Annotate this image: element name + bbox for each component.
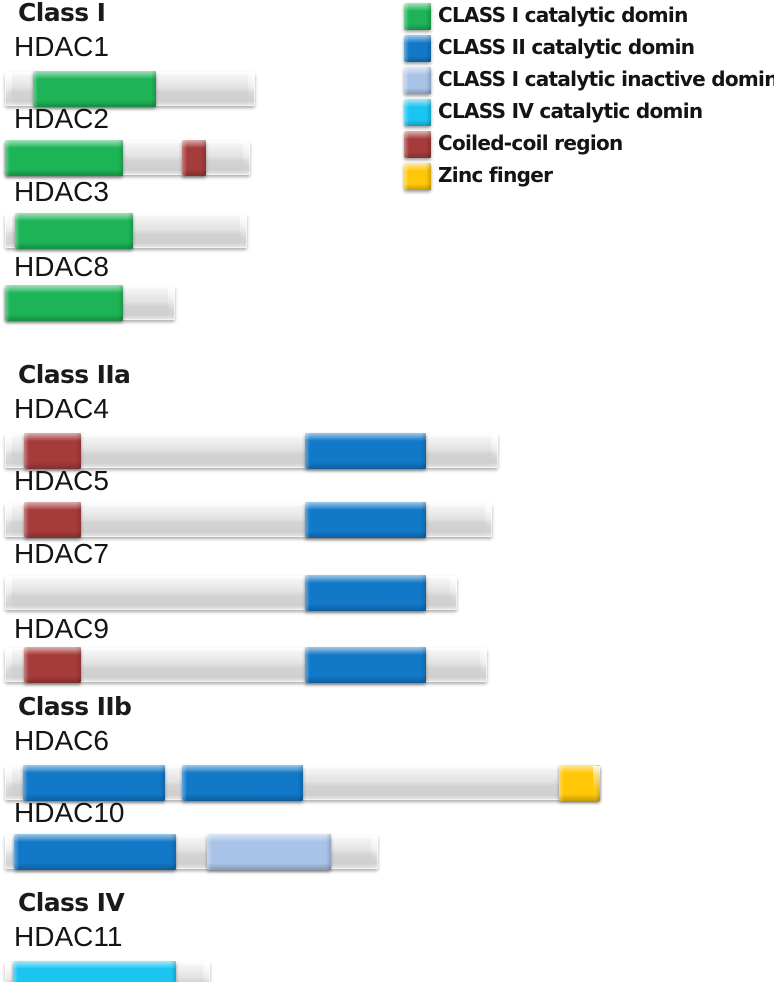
domain-block-class-ii-catalytic	[305, 647, 426, 683]
coiled-coil-swatch	[404, 131, 431, 158]
protein-bar	[5, 214, 247, 248]
domain-block-class-ii-catalytic	[305, 433, 426, 469]
legend-label: Coiled-coil region	[438, 128, 623, 159]
domain-block-class-ii-catalytic	[182, 765, 303, 801]
class-i-catalytic-swatch	[404, 3, 431, 30]
domain-block-class-ii-catalytic	[23, 765, 165, 801]
protein-bar	[5, 141, 250, 175]
protein-bar	[5, 766, 600, 800]
legend-item: CLASS I catalytic domin	[398, 0, 774, 32]
domain-block-class-i-inactive	[207, 834, 331, 870]
protein-label: HDAC2	[14, 105, 109, 133]
class-ii-catalytic-swatch	[404, 35, 431, 62]
domain-block-class-ii-catalytic	[305, 502, 426, 538]
protein-bar	[5, 576, 457, 610]
domain-block-coiled-coil	[24, 647, 81, 683]
domain-block-class-ii-catalytic	[14, 834, 176, 870]
legend: CLASS I catalytic domin CLASS II catalyt…	[398, 0, 774, 192]
domain-block-coiled-coil	[24, 502, 81, 538]
legend-label: CLASS I catalytic inactive domin	[438, 64, 774, 95]
legend-label: Zinc finger	[438, 160, 552, 191]
protein-bar	[5, 72, 255, 106]
domain-block-class-i-catalytic	[33, 71, 156, 107]
domain-block-zinc-finger	[559, 765, 600, 801]
protein-label: HDAC1	[14, 33, 109, 61]
legend-item: CLASS II catalytic domin	[398, 32, 774, 64]
legend-item: CLASS I catalytic inactive domin	[398, 64, 774, 96]
legend-label: CLASS IV catalytic domin	[438, 96, 702, 127]
protein-bar	[5, 648, 487, 682]
class-heading: Class IIb	[18, 694, 131, 719]
hdac-family-diagram: CLASS I catalytic domin CLASS II catalyt…	[0, 0, 774, 982]
class-i-inactive-swatch	[404, 67, 431, 94]
protein-label: HDAC4	[14, 395, 109, 423]
protein-bar	[5, 962, 210, 982]
zinc-finger-swatch	[404, 163, 431, 190]
protein-label: HDAC8	[14, 253, 109, 281]
protein-label: HDAC6	[14, 727, 109, 755]
domain-block-class-i-catalytic	[15, 213, 133, 249]
protein-label: HDAC10	[14, 799, 124, 827]
protein-label: HDAC9	[14, 615, 109, 643]
protein-label: HDAC7	[14, 540, 109, 568]
class-heading: Class I	[18, 0, 105, 25]
protein-bar	[5, 286, 175, 320]
protein-bar	[5, 434, 498, 468]
legend-item: Zinc finger	[398, 160, 774, 192]
domain-block-class-i-catalytic	[5, 285, 123, 321]
class-heading: Class IIa	[18, 362, 130, 387]
legend-item: CLASS IV catalytic domin	[398, 96, 774, 128]
protein-label: HDAC3	[14, 178, 109, 206]
protein-bar	[5, 835, 378, 869]
domain-block-class-i-catalytic	[5, 140, 123, 176]
legend-label: CLASS II catalytic domin	[438, 32, 694, 63]
legend-item: Coiled-coil region	[398, 128, 774, 160]
legend-label: CLASS I catalytic domin	[438, 0, 688, 31]
domain-block-class-ii-catalytic	[305, 575, 426, 611]
protein-label: HDAC11	[14, 923, 122, 951]
domain-block-coiled-coil	[24, 433, 81, 469]
class-heading: Class IV	[18, 890, 124, 915]
protein-label: HDAC5	[14, 467, 109, 495]
domain-block-coiled-coil	[182, 140, 206, 176]
domain-block-class-iv-catalytic	[13, 961, 176, 982]
protein-bar	[5, 503, 492, 537]
class-iv-catalytic-swatch	[404, 99, 431, 126]
